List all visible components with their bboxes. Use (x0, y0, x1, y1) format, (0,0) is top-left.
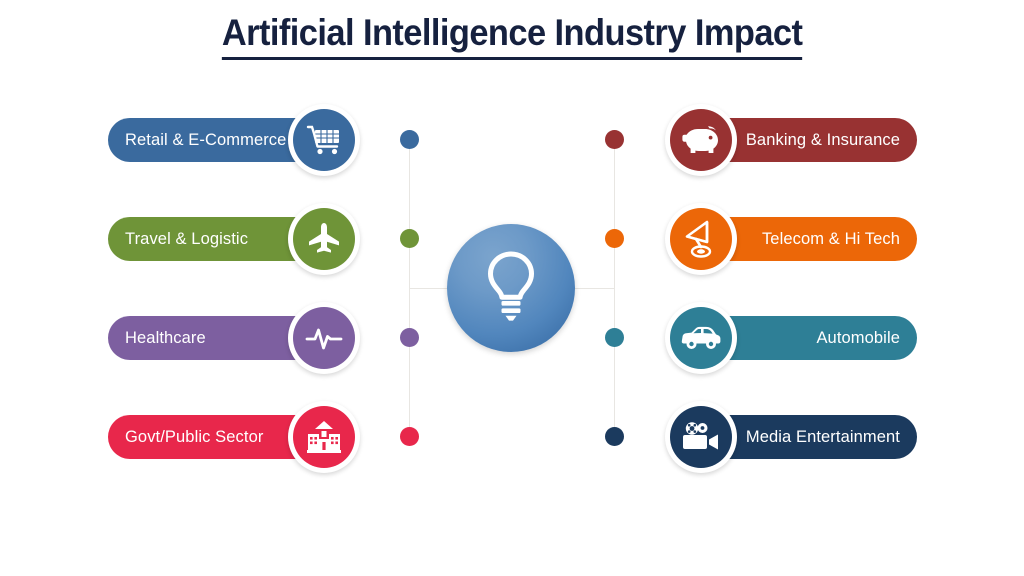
connector-dot-right-4 (605, 427, 624, 446)
page-title: Artificial Intelligence Industry Impact (0, 12, 1024, 60)
right-connector-rail (614, 140, 615, 437)
item-travel-logistic[interactable]: Travel & Logistic (95, 194, 385, 284)
item-label: Media Entertainment (746, 428, 900, 447)
icon-bubble-automobile[interactable] (665, 302, 737, 374)
government-building-icon (306, 420, 342, 454)
item-label: Travel & Logistic (125, 230, 248, 249)
car-icon (681, 325, 721, 351)
lightbulb-icon (480, 249, 542, 328)
icon-bubble-travel-logistic[interactable] (288, 203, 360, 275)
piggy-bank-icon (682, 124, 720, 156)
airplane-icon (306, 221, 342, 257)
item-label: Healthcare (125, 329, 206, 348)
connector-dot-right-3 (605, 328, 624, 347)
item-automobile[interactable]: Automobile (655, 293, 945, 383)
movie-camera-icon (681, 421, 721, 453)
connector-dot-right-1 (605, 130, 624, 149)
item-label: Retail & E-Commerce (125, 131, 286, 150)
connector-dot-left-4 (400, 427, 419, 446)
center-hub-lightbulb[interactable] (447, 224, 575, 352)
satellite-dish-icon (683, 220, 719, 258)
item-label: Telecom & Hi Tech (762, 230, 900, 249)
connector-dot-left-3 (400, 328, 419, 347)
icon-bubble-telecom-hi-tech[interactable] (665, 203, 737, 275)
icon-bubble-banking-insurance[interactable] (665, 104, 737, 176)
item-healthcare[interactable]: Healthcare (95, 293, 385, 383)
item-telecom-hi-tech[interactable]: Telecom & Hi Tech (655, 194, 945, 284)
icon-bubble-govt-public-sector[interactable] (288, 401, 360, 473)
item-label: Govt/Public Sector (125, 428, 263, 447)
item-banking-insurance[interactable]: Banking & Insurance (655, 95, 945, 185)
connector-dot-left-1 (400, 130, 419, 149)
item-govt-public-sector[interactable]: Govt/Public Sector (95, 392, 385, 482)
shopping-cart-icon (306, 122, 342, 158)
item-label: Banking & Insurance (746, 131, 900, 150)
connector-dot-left-2 (400, 229, 419, 248)
icon-bubble-retail-ecommerce[interactable] (288, 104, 360, 176)
icon-bubble-healthcare[interactable] (288, 302, 360, 374)
item-label: Automobile (816, 329, 900, 348)
heartbeat-icon (305, 319, 343, 357)
page-title-text: Artificial Intelligence Industry Impact (222, 12, 803, 60)
connector-dot-right-2 (605, 229, 624, 248)
item-retail-ecommerce[interactable]: Retail & E-Commerce (95, 95, 385, 185)
icon-bubble-media-entertainment[interactable] (665, 401, 737, 473)
item-media-entertainment[interactable]: Media Entertainment (655, 392, 945, 482)
slide-canvas: Artificial Intelligence Industry Impact … (0, 0, 1024, 576)
